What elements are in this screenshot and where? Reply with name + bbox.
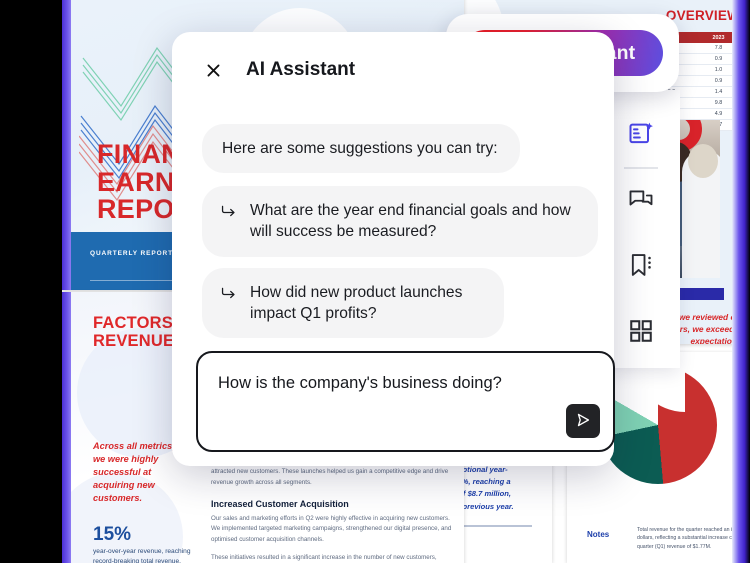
section-paragraph: These initiatives resulted in a signific… <box>211 553 457 563</box>
rail-divider <box>624 167 658 169</box>
panel-title: AI Assistant <box>246 59 355 81</box>
assistant-intro-message: Here are some suggestions you can try: <box>202 124 520 173</box>
growth-stat-value: 15% <box>93 524 131 546</box>
apps-grid-icon[interactable] <box>619 309 663 353</box>
suggestion-text: What are the year end financial goals an… <box>250 200 576 242</box>
close-icon[interactable] <box>202 59 224 81</box>
comments-icon[interactable] <box>619 177 663 221</box>
panel-header: AI Assistant <box>172 32 614 108</box>
notes-label: Notes <box>587 530 609 539</box>
suggestion-list: Here are some suggestions you can try: W… <box>202 124 584 349</box>
pie-chart <box>599 366 717 484</box>
ai-assistant-icon[interactable] <box>619 112 663 156</box>
section-paragraph: Our sales and marketing efforts in Q2 we… <box>211 514 457 546</box>
send-button[interactable] <box>566 404 600 438</box>
overview-title: OVERVIEW <box>666 8 740 23</box>
arrow-turn-down-right-icon <box>220 285 237 307</box>
bookmarks-icon[interactable] <box>619 243 663 287</box>
canvas-right-edge <box>732 0 750 563</box>
suggestion-item[interactable]: How did new product launches impact Q1 p… <box>202 268 504 338</box>
section-heading: Increased Customer Acquisition <box>211 499 457 509</box>
screenshot-root: OVERVIEW 2022 2023 6.77.8 0.70.9 0.91.0 … <box>0 0 750 563</box>
send-paper-plane-icon <box>574 411 592 432</box>
suggestion-item[interactable]: What are the year end financial goals an… <box>202 186 598 256</box>
cover-band-label: QUARTERLY REPORT <box>90 250 173 257</box>
prompt-input[interactable]: How is the company's business doing? <box>218 373 593 394</box>
arrow-turn-down-right-icon <box>220 203 237 225</box>
ai-prompt-composer[interactable]: How is the company's business doing? <box>196 351 615 452</box>
growth-stat-caption: year-over-year revenue, reaching record-… <box>93 547 197 563</box>
suggestion-text: How did new product launches impact Q1 p… <box>250 282 482 324</box>
